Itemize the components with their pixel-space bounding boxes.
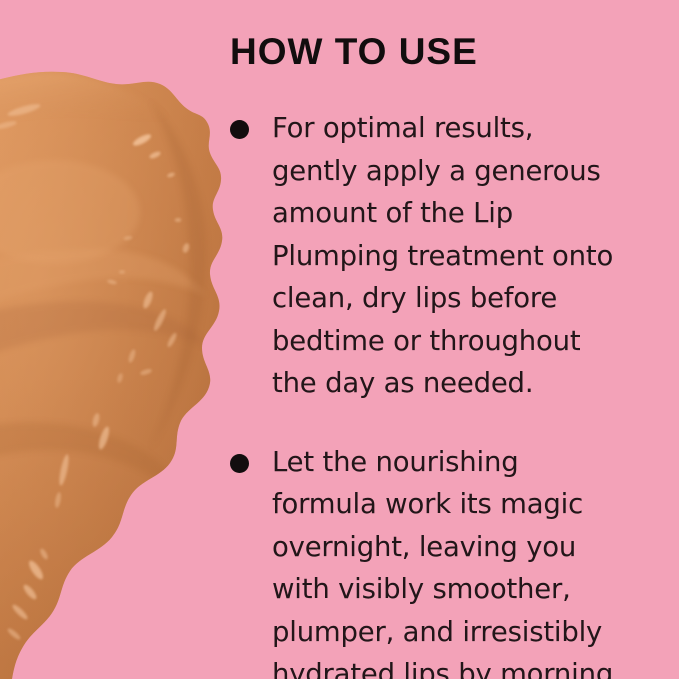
- page-title: HOW TO USE: [230, 33, 478, 70]
- list-item: Let the nourishing formula work its magi…: [230, 441, 660, 679]
- text-column: HOW TO USE For optimal results, gently a…: [230, 0, 660, 679]
- swatch-ridge-upper: [0, 249, 206, 312]
- swatch-rim-shade: [150, 100, 206, 450]
- bullet-dot-icon: [230, 120, 249, 139]
- list-item: For optimal results, gently apply a gene…: [230, 107, 660, 405]
- swatch-highlight-blob: [0, 160, 140, 264]
- swatch-top-sheen: [0, 73, 170, 130]
- instructions-list: For optimal results, gently apply a gene…: [230, 107, 660, 679]
- product-info-card: HOW TO USE For optimal results, gently a…: [0, 0, 679, 679]
- instruction-text: For optimal results, gently apply a gene…: [272, 107, 660, 405]
- instruction-text: Let the nourishing formula work its magi…: [272, 441, 660, 679]
- swatch-lower-shade: [0, 423, 192, 504]
- swatch-body: [0, 60, 260, 679]
- bullet-dot-icon: [230, 454, 249, 473]
- swatch-gloss-speckles: [0, 102, 190, 641]
- swatch-crease: [0, 301, 208, 364]
